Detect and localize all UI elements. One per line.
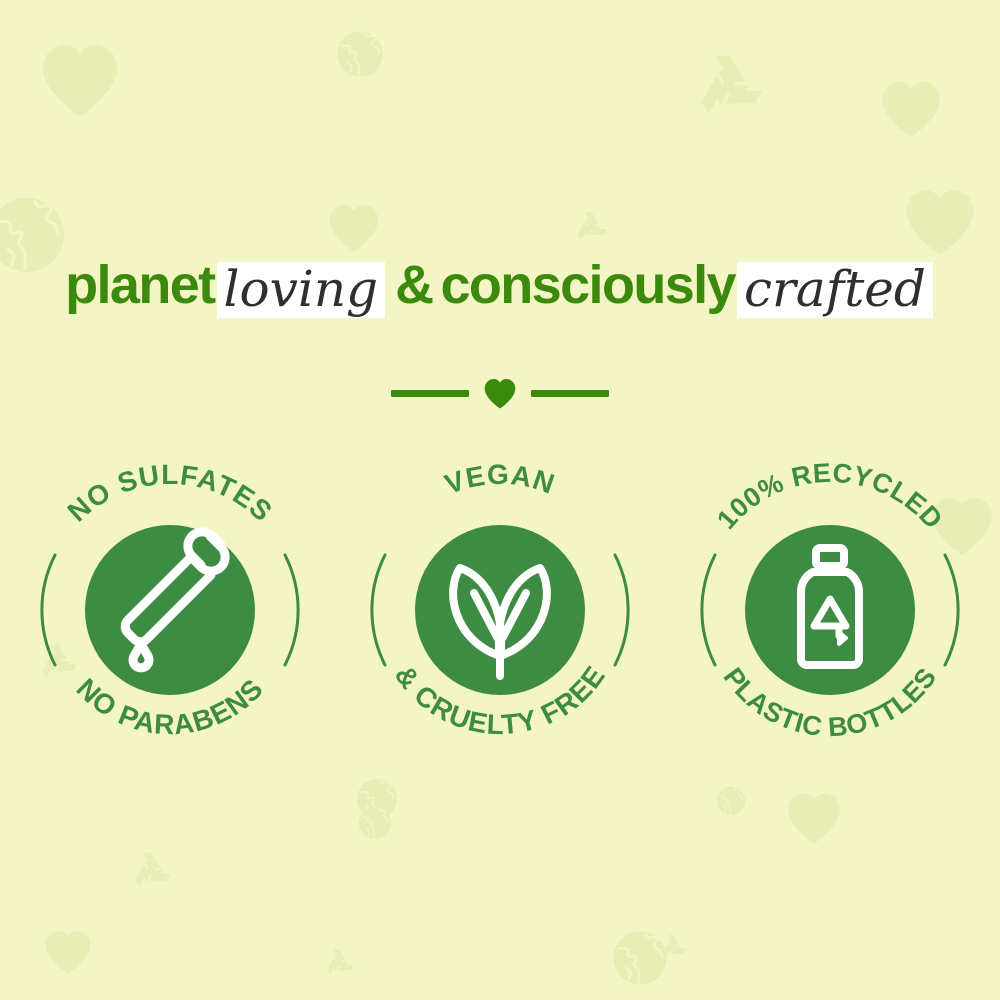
badge-recycled-plastic-bottles[interactable]: 100% RECYCLED PLASTIC BOTTLES	[680, 460, 980, 760]
watermark-globe-icon	[716, 786, 746, 816]
headline-word-consciously: consciously	[440, 255, 735, 315]
badge-top-text: NO SULFATES	[61, 460, 278, 528]
watermark-recycle-icon	[572, 208, 610, 246]
watermark-heart-icon	[44, 928, 92, 976]
headline-word-ampersand: &	[395, 255, 432, 315]
watermark-recycle-icon	[128, 848, 174, 894]
watermark-globe-icon	[336, 30, 384, 78]
divider-rule-right	[531, 390, 609, 397]
watermark-recycle-icon	[690, 48, 768, 126]
badge-arc-left	[42, 555, 55, 665]
badge-arc-right	[945, 555, 958, 665]
badge-arc-left	[372, 555, 385, 665]
badge-arc-left	[702, 555, 715, 665]
headline-word-planet: planet	[65, 255, 214, 315]
headline-word-crafted: crafted	[737, 262, 933, 318]
watermark-globe-icon	[612, 930, 668, 986]
watermark-heart-icon	[904, 186, 976, 258]
badge-arc-right	[615, 555, 628, 665]
badge-vegan-cruelty-free[interactable]: VEGAN & CRUELTY FREE	[350, 460, 650, 760]
badge-top-text: VEGAN	[441, 460, 559, 500]
badge-top-text: 100% RECYCLED	[711, 460, 948, 535]
watermark-globe-icon	[356, 778, 398, 820]
divider-rule-left	[391, 390, 469, 397]
watermark-recycle-icon	[658, 932, 688, 962]
watermark-globe-icon	[358, 806, 392, 840]
headline: planetloving&consciouslycrafted	[0, 258, 1000, 315]
watermark-recycle-icon	[322, 946, 356, 980]
infographic-canvas: planetloving&consciouslycrafted	[0, 0, 1000, 1000]
watermark-heart-icon	[880, 78, 942, 140]
headline-word-loving: loving	[217, 262, 386, 318]
heart-icon	[483, 378, 517, 409]
divider	[0, 378, 1000, 409]
watermark-heart-icon	[786, 790, 842, 846]
badge-row: NO SULFATES NO PARABENS	[0, 460, 1000, 760]
watermark-heart-icon	[328, 202, 380, 254]
badge-arc-right	[285, 555, 298, 665]
badge-no-sulfates-no-parabens[interactable]: NO SULFATES NO PARABENS	[20, 460, 320, 760]
watermark-heart-icon	[40, 40, 120, 120]
